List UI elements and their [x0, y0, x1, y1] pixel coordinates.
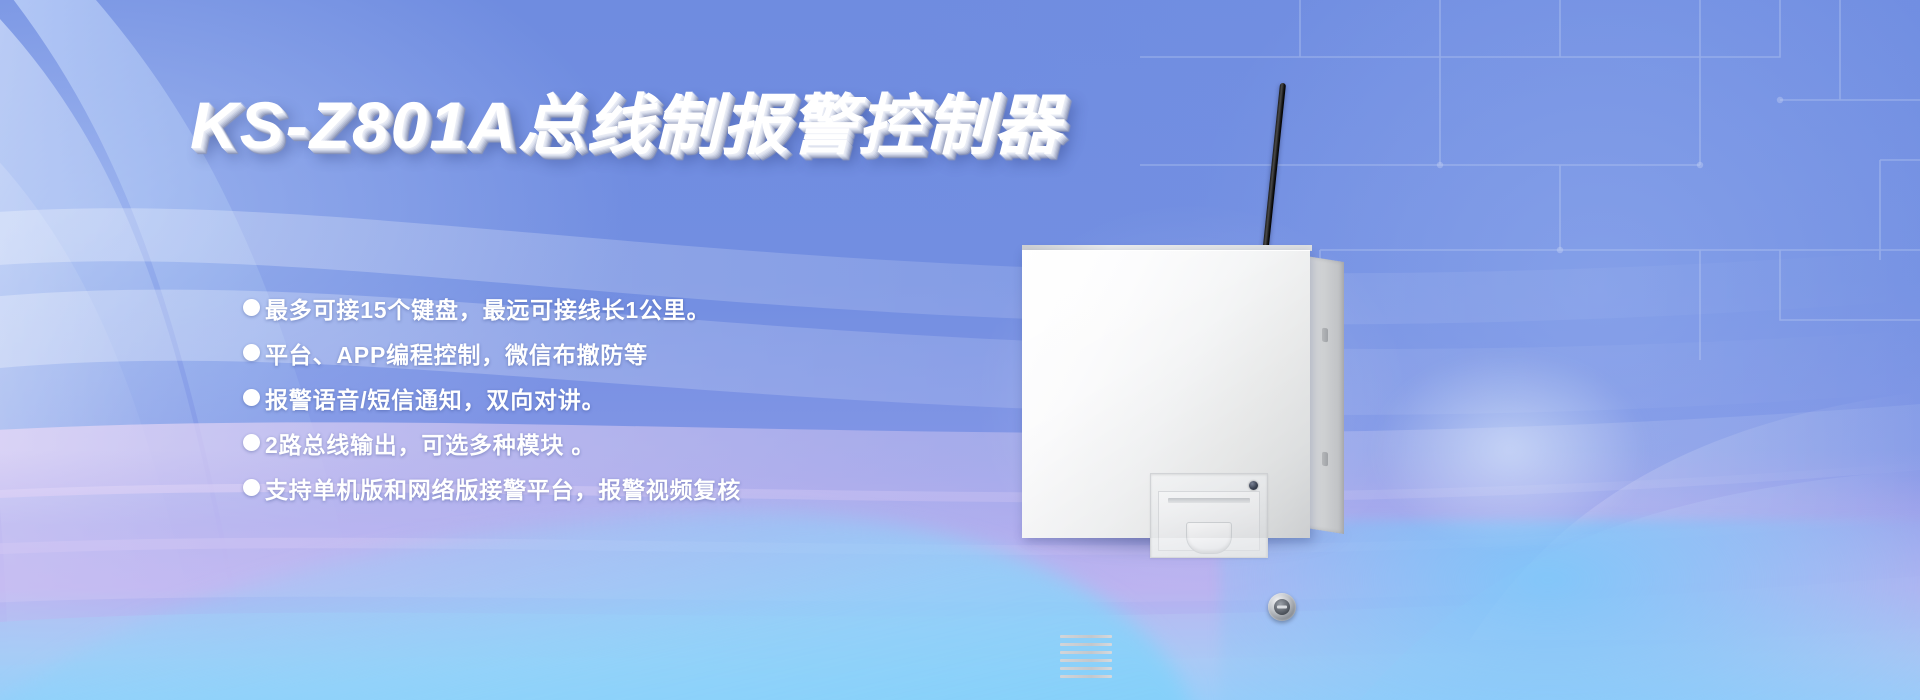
key-lock-cylinder-icon [1268, 593, 1296, 621]
product-hero-banner: KS-Z801A总线制报警控制器 最多可接15个键盘，最远可接线长1公里。 平台… [0, 0, 1920, 700]
bullet-dot-icon [243, 479, 260, 496]
list-item: 报警语音/短信通知，双向对讲。 [243, 375, 741, 420]
ventilation-slots-icon [1060, 635, 1112, 683]
page-title: KS-Z801A总线制报警控制器 [190, 72, 1062, 168]
list-item: 支持单机版和网络版接警平台，报警视频复核 [243, 465, 741, 510]
lock-core [1274, 599, 1290, 615]
enclosure-front-door [1022, 250, 1310, 538]
bullet-dot-icon [243, 434, 260, 451]
enclosure-hinge-bottom [1322, 452, 1328, 467]
keypad-slot [1168, 498, 1250, 503]
enclosure-hinge-top [1322, 328, 1328, 343]
product-image [1012, 60, 1632, 680]
bullet-dot-icon [243, 389, 260, 406]
bullet-dot-icon [243, 344, 260, 361]
feature-text: 2路总线输出，可选多种模块 。 [265, 426, 595, 460]
banner-title-wrapper: KS-Z801A总线制报警控制器 [190, 72, 1062, 168]
feature-text: 平台、APP编程控制，微信布撤防等 [265, 336, 648, 370]
keypad-display-recess [1150, 473, 1268, 558]
list-item: 2路总线输出，可选多种模块 。 [243, 420, 741, 465]
keypad-pull-handle [1186, 522, 1232, 554]
feature-text: 支持单机版和网络版接警平台，报警视频复核 [265, 471, 741, 505]
feature-text: 最多可接15个键盘，最远可接线长1公里。 [265, 291, 710, 325]
status-led-icon [1249, 481, 1258, 490]
keypad-recess-inner [1158, 491, 1260, 551]
feature-text: 报警语音/短信通知，双向对讲。 [265, 381, 605, 415]
lock-keyway [1277, 606, 1287, 609]
list-item: 平台、APP编程控制，微信布撤防等 [243, 330, 741, 375]
bullet-dot-icon [243, 299, 260, 316]
feature-list: 最多可接15个键盘，最远可接线长1公里。 平台、APP编程控制，微信布撤防等 报… [243, 285, 741, 510]
enclosure-side-panel [1306, 256, 1344, 534]
list-item: 最多可接15个键盘，最远可接线长1公里。 [243, 285, 741, 330]
